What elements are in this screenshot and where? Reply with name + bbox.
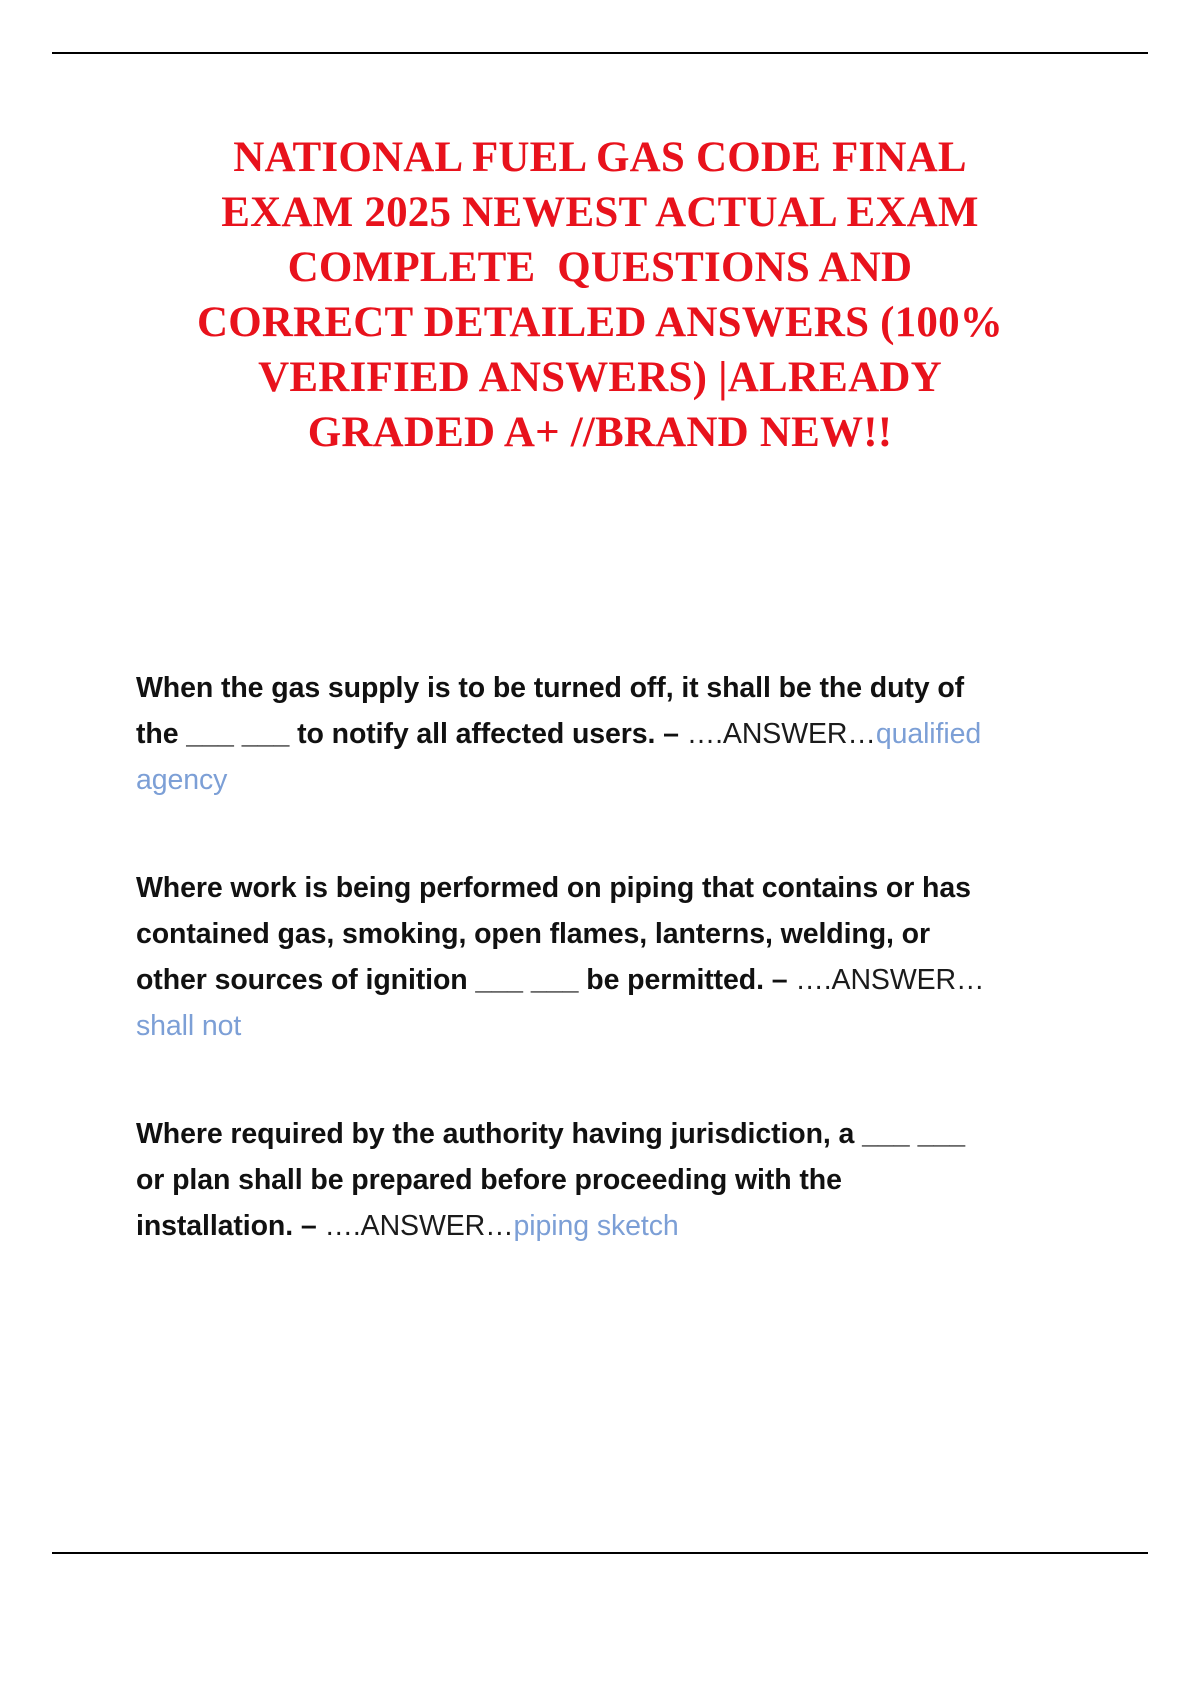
title-line-6: GRADED A+ //BRAND NEW!! — [120, 405, 1080, 460]
question-text: Where required by the authority having j… — [136, 1118, 862, 1150]
header-divider-rule — [52, 52, 1148, 54]
document-page: NATIONAL FUEL GAS CODE FINAL EXAM 2025 N… — [0, 0, 1200, 1700]
qa-item: Where work is being performed on piping … — [136, 865, 986, 1049]
footer-divider-rule — [52, 1552, 1148, 1554]
title-line-1: NATIONAL FUEL GAS CODE FINAL — [120, 130, 1080, 185]
answer-blank: ___ ___ — [186, 718, 289, 750]
answer-blank: ___ ___ — [862, 1118, 965, 1150]
title-line-3: COMPLETE QUESTIONS AND — [120, 240, 1080, 295]
question-text-cont: be permitted. – — [578, 964, 795, 996]
title-line-5: VERIFIED ANSWERS) |ALREADY — [120, 350, 1080, 405]
answer-blank: ___ ___ — [475, 964, 578, 996]
question-text-cont: to notify all affected users. – — [289, 718, 686, 750]
title-line-2: EXAM 2025 NEWEST ACTUAL EXAM — [120, 185, 1080, 240]
page-title: NATIONAL FUEL GAS CODE FINAL EXAM 2025 N… — [120, 130, 1080, 460]
answer-tag: ….ANSWER… — [324, 1210, 513, 1242]
answer-tag: ….ANSWER… — [687, 718, 876, 750]
qa-list: When the gas supply is to be turned off,… — [136, 665, 986, 1249]
qa-item: Where required by the authority having j… — [136, 1111, 986, 1249]
answer-value: shall not — [136, 1010, 241, 1042]
answer-value: piping sketch — [514, 1210, 679, 1242]
qa-item: When the gas supply is to be turned off,… — [136, 665, 986, 803]
title-line-4: CORRECT DETAILED ANSWERS (100% — [120, 295, 1080, 350]
answer-tag: ….ANSWER… — [795, 964, 984, 996]
